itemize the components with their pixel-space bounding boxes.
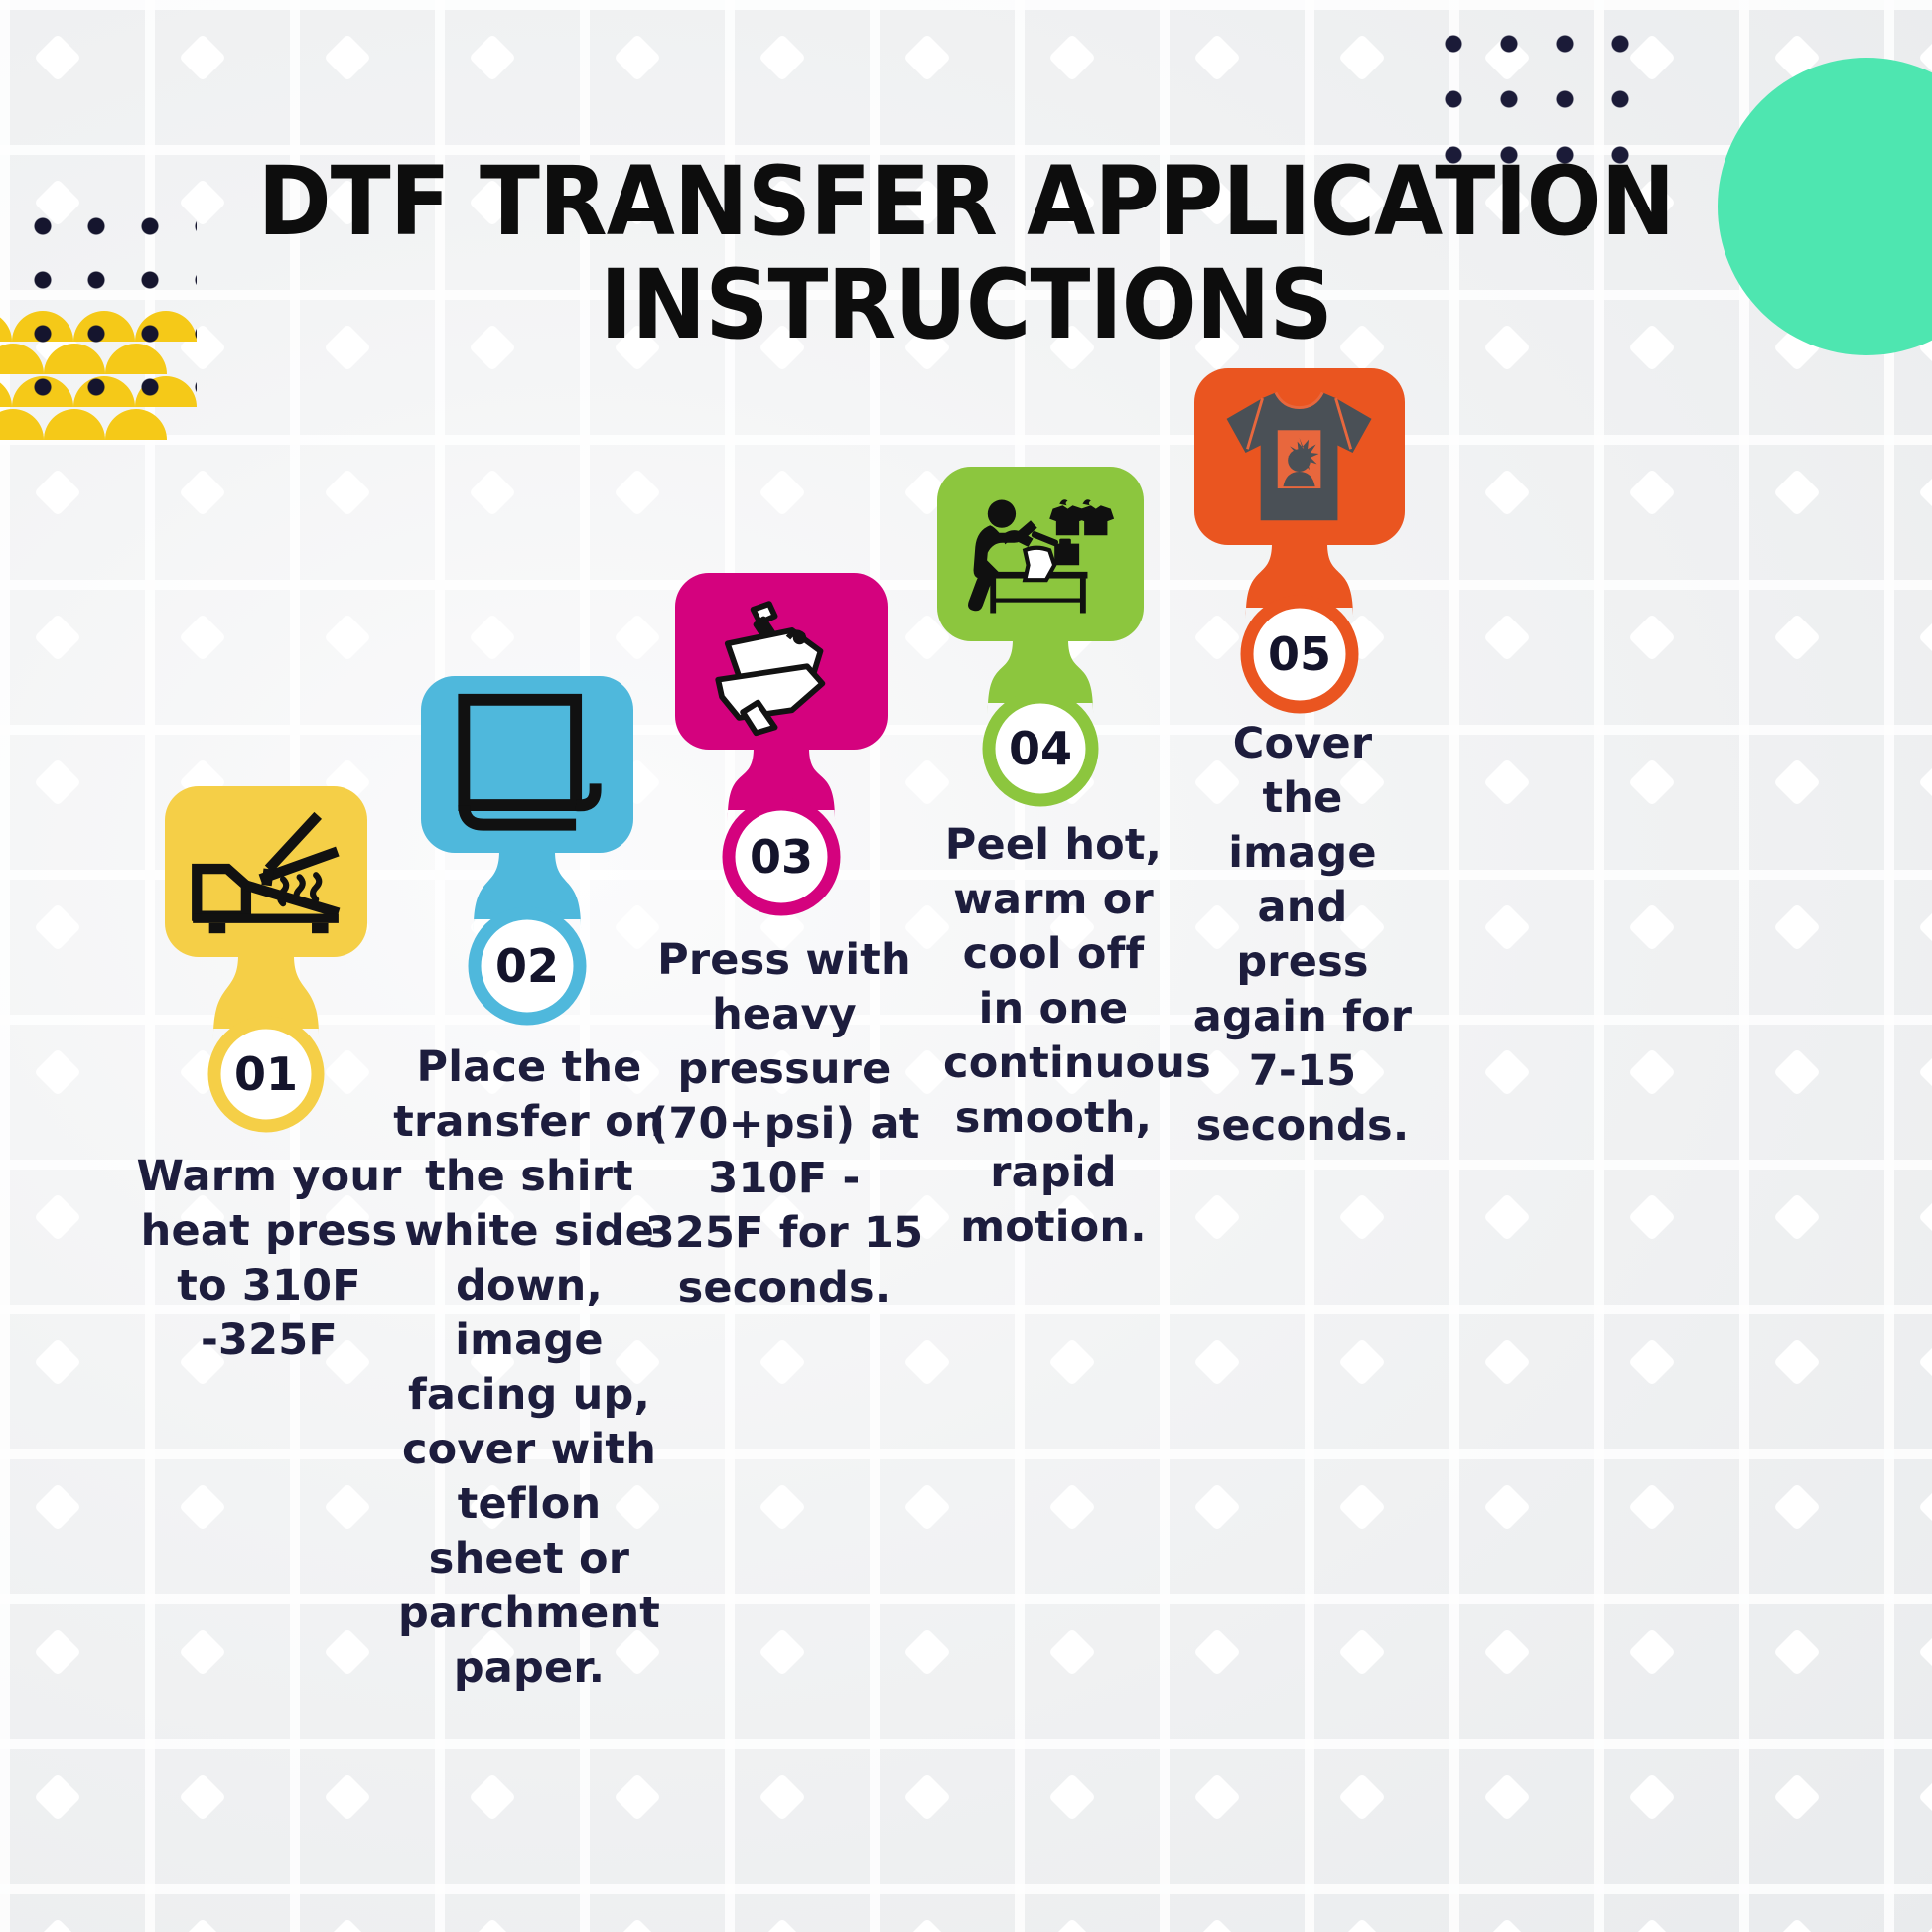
step-icon-wrapper <box>1194 368 1405 545</box>
steps-container: 01Warm your heat press to 310F -325F 02P… <box>0 0 1932 1932</box>
step-pin-shape <box>0 0 1932 1932</box>
printed-tshirt-icon <box>1219 381 1379 532</box>
step-number-label: 05 <box>1247 602 1352 707</box>
step-description: Cover the image and press again for 7-15… <box>1191 717 1414 1154</box>
